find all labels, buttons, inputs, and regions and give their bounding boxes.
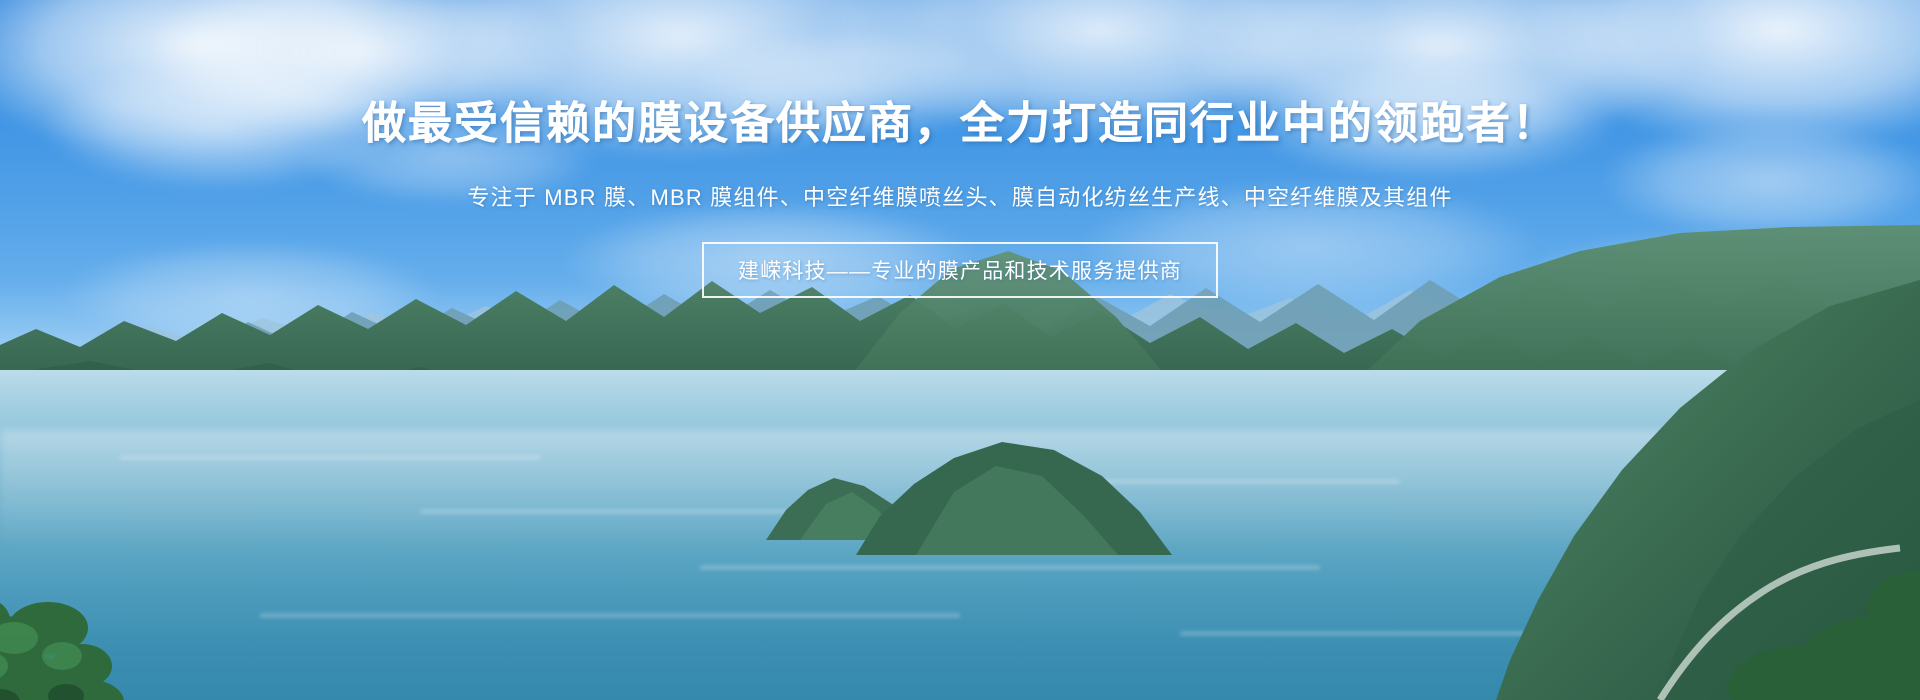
hero-banner: 做最受信赖的膜设备供应商，全力打造同行业中的领跑者！ 专注于 MBR 膜、MBR…	[0, 0, 1920, 700]
water-reflection	[700, 566, 1320, 569]
banner-tagline-box: 建嵘科技——专业的膜产品和技术服务提供商	[702, 242, 1218, 298]
water-reflection	[260, 614, 960, 617]
banner-subheadline: 专注于 MBR 膜、MBR 膜组件、中空纤维膜喷丝头、膜自动化纺丝生产线、中空纤…	[467, 180, 1452, 212]
banner-headline: 做最受信赖的膜设备供应商，全力打造同行业中的领跑者！	[362, 100, 1558, 148]
lake-island-large	[856, 430, 1176, 560]
foreground-foliage-right	[1520, 290, 1920, 700]
foreground-foliage-left	[0, 440, 200, 700]
banner-text-overlay: 做最受信赖的膜设备供应商，全力打造同行业中的领跑者！ 专注于 MBR 膜、MBR…	[0, 0, 1920, 298]
